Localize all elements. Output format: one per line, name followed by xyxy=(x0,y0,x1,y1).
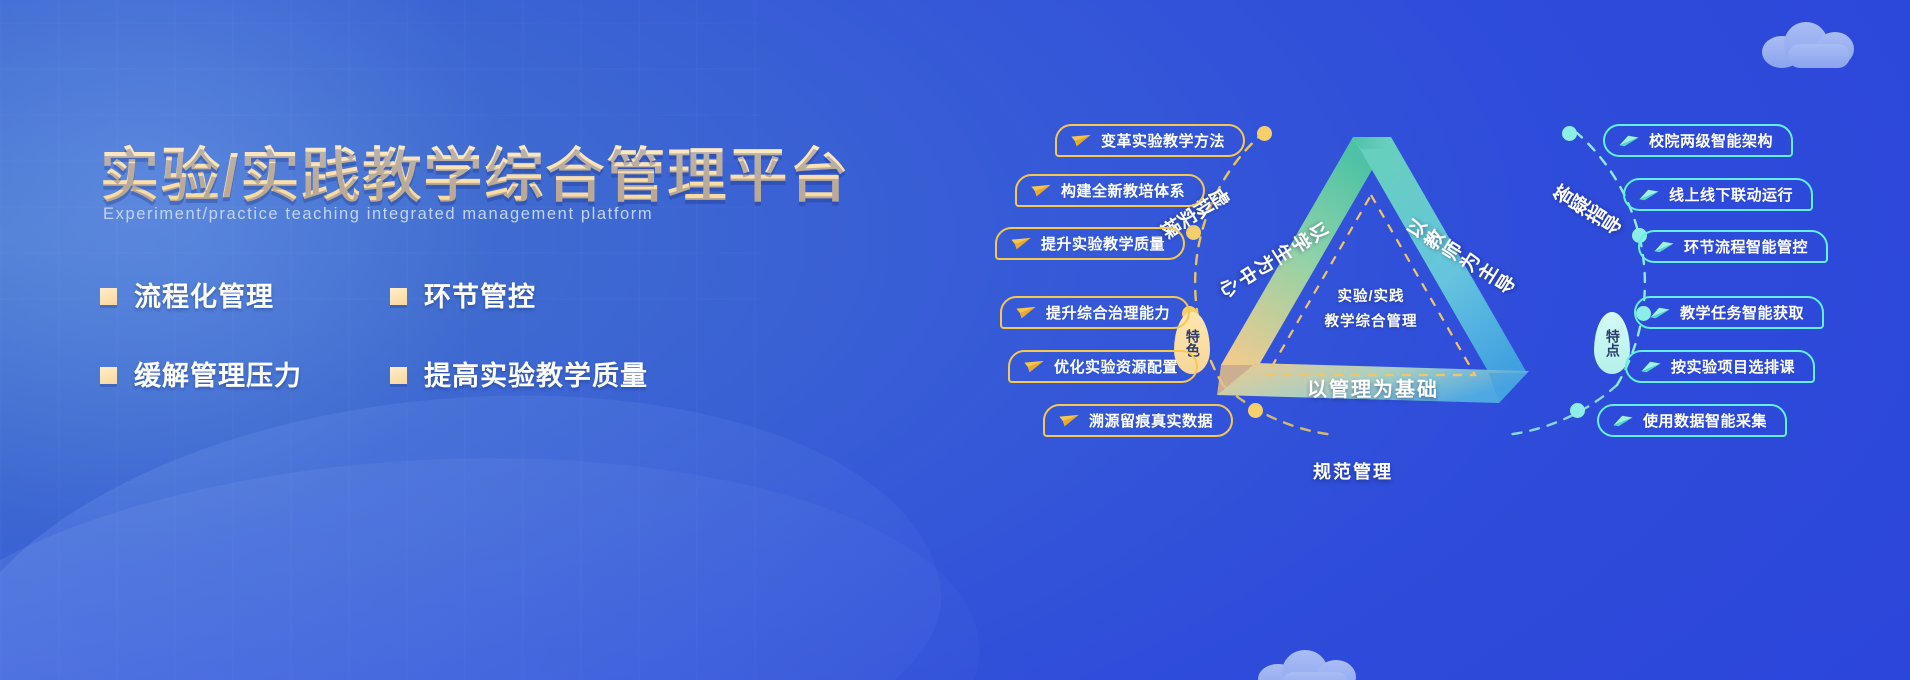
left-tag-label: 变革实验教学方法 xyxy=(1101,130,1225,151)
left-tag-label: 溯源留痕真实数据 xyxy=(1089,410,1213,431)
feature-label: 缓解管理压力 xyxy=(134,354,302,393)
triangle-edge-label-bottom: 以管理为基础 xyxy=(1307,373,1439,402)
left-tag-2[interactable]: 构建全新教培体系 xyxy=(1015,174,1205,207)
paper-plane-icon xyxy=(1618,134,1640,148)
badge-tedian-label: 特点 xyxy=(1604,329,1620,357)
right-tag-5[interactable]: 按实验项目选排课 xyxy=(1625,350,1815,383)
feature-list: 流程化管理 环节管控 缓解管理压力 提高实验教学质量 xyxy=(100,275,740,433)
feature-row: 缓解管理压力 提高实验教学质量 xyxy=(100,354,740,393)
core-line-1: 实验/实践 xyxy=(1291,285,1451,310)
bullet-square-icon xyxy=(390,367,407,384)
hero-banner: 实验/实践教学综合管理平台 Experiment/practice teachi… xyxy=(0,0,1910,680)
left-tag-label: 提升综合治理能力 xyxy=(1046,302,1170,323)
left-tag-label: 构建全新教培体系 xyxy=(1061,180,1185,201)
feature-label: 提高实验教学质量 xyxy=(424,354,648,393)
right-tag-label: 按实验项目选排课 xyxy=(1671,356,1795,377)
left-glow xyxy=(0,0,560,540)
left-tag-6[interactable]: 溯源留痕真实数据 xyxy=(1043,404,1233,437)
left-tag-3[interactable]: 提升实验教学质量 xyxy=(995,227,1185,260)
feature-item: 缓解管理压力 xyxy=(100,354,390,393)
core-line-2: 教学综合管理 xyxy=(1291,310,1451,335)
right-tag-label: 环节流程智能管控 xyxy=(1684,236,1808,257)
bullet-square-icon xyxy=(100,367,117,384)
right-tag-label: 使用数据智能采集 xyxy=(1643,410,1767,431)
left-tag-1[interactable]: 变革实验教学方法 xyxy=(1055,124,1245,157)
paper-plane-icon xyxy=(1649,306,1671,320)
paper-plane-icon xyxy=(1070,134,1092,148)
cloud-icon-bottom-center xyxy=(1258,648,1376,680)
right-tag-1[interactable]: 校院两级智能架构 xyxy=(1603,124,1793,157)
right-tag-label: 教学任务智能获取 xyxy=(1680,302,1804,323)
paper-plane-icon xyxy=(1638,188,1660,202)
bullet-square-icon xyxy=(100,288,117,305)
feature-label: 环节管控 xyxy=(424,275,536,314)
right-tag-label: 线上线下联动运行 xyxy=(1669,184,1793,205)
right-tag-2[interactable]: 线上线下联动运行 xyxy=(1623,178,1813,211)
right-tag-4[interactable]: 教学任务智能获取 xyxy=(1634,296,1824,329)
right-tag-label: 校院两级智能架构 xyxy=(1649,130,1773,151)
feature-item: 提高实验教学质量 xyxy=(390,354,680,393)
paper-plane-icon xyxy=(1612,414,1634,428)
paper-plane-icon xyxy=(1010,237,1032,251)
cloud-icon-top-right xyxy=(1762,18,1874,66)
left-tag-5[interactable]: 优化实验资源配置 xyxy=(1008,350,1198,383)
page-subtitle: Experiment/practice teaching integrated … xyxy=(103,205,653,224)
paper-plane-icon xyxy=(1015,306,1037,320)
feature-item: 环节管控 xyxy=(390,275,680,314)
bullet-square-icon xyxy=(390,288,407,305)
triangle-core-text: 实验/实践 教学综合管理 xyxy=(1291,285,1451,336)
background-wave-back xyxy=(0,432,990,680)
left-tag-label: 优化实验资源配置 xyxy=(1054,356,1178,377)
paper-plane-icon xyxy=(1653,240,1675,254)
paper-plane-icon xyxy=(1058,414,1080,428)
page-title: 实验/实践教学综合管理平台 xyxy=(100,128,850,213)
left-tag-4[interactable]: 提升综合治理能力 xyxy=(1000,296,1190,329)
paper-plane-icon xyxy=(1023,360,1045,374)
right-tag-3[interactable]: 环节流程智能管控 xyxy=(1638,230,1828,263)
paper-plane-icon xyxy=(1640,360,1662,374)
left-tag-label: 提升实验教学质量 xyxy=(1041,233,1165,254)
feature-label: 流程化管理 xyxy=(134,275,274,314)
diagram-caption: 规范管理 xyxy=(1313,458,1393,484)
feature-item: 流程化管理 xyxy=(100,275,390,314)
paper-plane-icon xyxy=(1030,184,1052,198)
right-tag-6[interactable]: 使用数据智能采集 xyxy=(1597,404,1787,437)
feature-row: 流程化管理 环节管控 xyxy=(100,275,740,314)
